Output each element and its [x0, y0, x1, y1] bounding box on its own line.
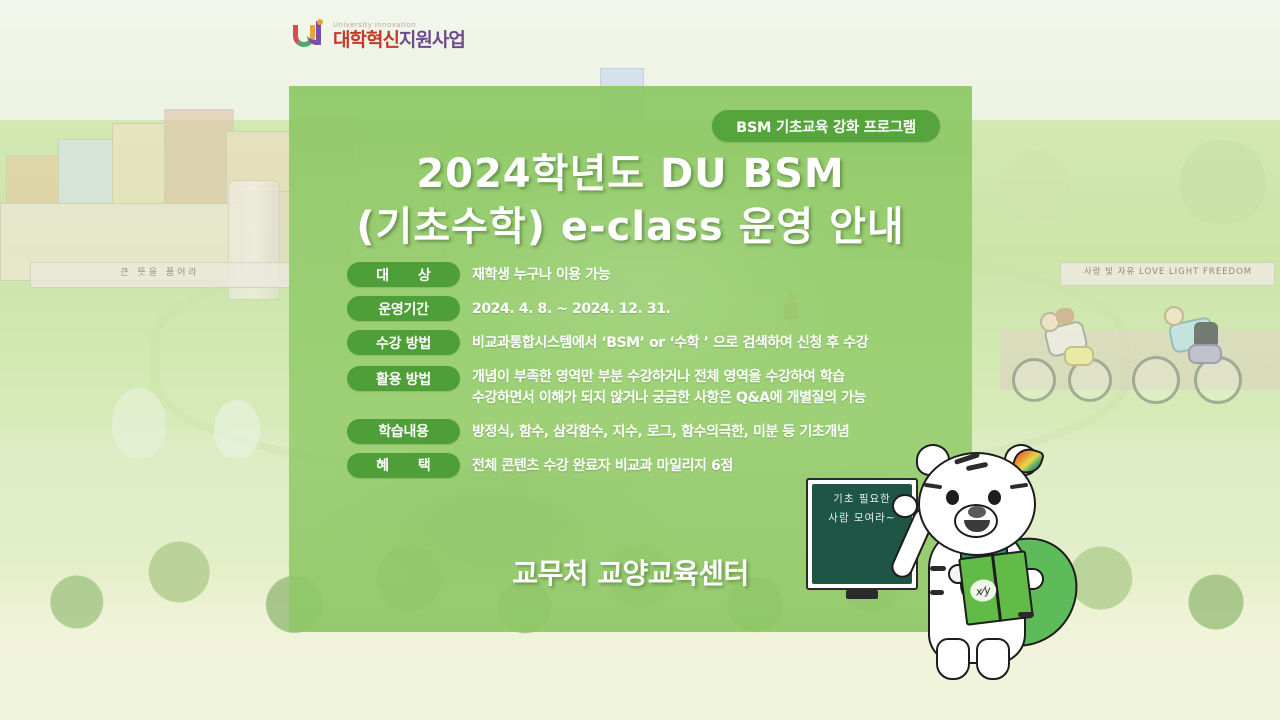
mascot-body-stripe-3 — [1018, 612, 1034, 617]
info-row-label: 운영기간 — [347, 296, 460, 321]
background-tree-1 — [112, 388, 166, 458]
poster-canvas: 큰 뜻을 품어라 사랑 빛 자유 LOVE LIGHT FREEDOM — [0, 0, 1280, 720]
info-row: 혜 택전체 콘텐츠 수강 완료자 비교과 마일리지 6점 — [347, 453, 947, 478]
logo-korean-text: 대학혁신지원사업 — [333, 31, 465, 50]
page-title: 2024학년도 DU BSM (기초수학) e-class 운영 안내 — [289, 148, 972, 254]
background-cyclist-left — [1012, 300, 1122, 410]
mascot-leg-right — [976, 638, 1010, 680]
background-tree-2 — [214, 400, 260, 458]
info-row-value: 개념이 부족한 영역만 부분 수강하거나 전체 영역을 수강하여 학습수강하면서… — [472, 364, 866, 410]
title-line-2: (기초수학) e-class 운영 안내 — [289, 201, 972, 254]
info-row-value-line: 재학생 누구나 이용 가능 — [472, 265, 610, 286]
info-row: 학습내용방정식, 함수, 삼각함수, 지수, 로그, 함수의극한, 미분 등 기… — [347, 419, 947, 444]
info-row-value: 비교과통합시스템에서 ‘BSM’ or ‘수학 ’ 으로 검색하여 신청 후 수… — [472, 330, 868, 354]
background-tree-4 — [1180, 140, 1266, 224]
mascot-leg-left — [936, 638, 970, 680]
university-innovation-logo: University innovation 대학혁신지원사업 — [293, 18, 465, 54]
info-row-value-line: 전체 콘텐츠 수강 완료자 비교과 마일리지 6점 — [472, 456, 733, 477]
mascot-eye-right — [988, 490, 1001, 505]
logo-korean-part1: 대학혁신 — [333, 29, 399, 51]
info-row: 운영기간2024. 4. 8. ~ 2024. 12. 31. — [347, 296, 947, 321]
info-row-value-line: 비교과통합시스템에서 ‘BSM’ or ‘수학 ’ 으로 검색하여 신청 후 수… — [472, 333, 868, 354]
info-row-value-line: 방정식, 함수, 삼각함수, 지수, 로그, 함수의극한, 미분 등 기초개념 — [472, 422, 849, 443]
background-tree-3 — [1000, 150, 1070, 222]
logo-text-block: University innovation 대학혁신지원사업 — [333, 22, 465, 50]
gate-left-text: 큰 뜻을 품어라 — [60, 265, 260, 278]
info-row-value: 전체 콘텐츠 수강 완료자 비교과 마일리지 6점 — [472, 453, 733, 477]
mascot-body-stripe-1 — [930, 566, 946, 571]
mascot-eye-left — [946, 490, 959, 505]
logo-korean-part2: 지원사업 — [399, 29, 465, 51]
info-row: 활용 방법개념이 부족한 영역만 부분 수강하거나 전체 영역을 수강하여 학습… — [347, 364, 947, 410]
info-row: 수강 방법비교과통합시스템에서 ‘BSM’ or ‘수학 ’ 으로 검색하여 신… — [347, 330, 947, 355]
blackboard-line-1: 기초 필요한 — [833, 491, 891, 506]
info-row-value-line: 2024. 4. 8. ~ 2024. 12. 31. — [472, 299, 670, 320]
uj-logo-mark-icon — [293, 19, 327, 53]
info-row-value: 재학생 누구나 이용 가능 — [472, 262, 610, 286]
info-row-label: 활용 방법 — [347, 366, 460, 391]
program-badge: BSM 기초교육 강화 프로그램 — [712, 110, 940, 142]
mascot-nose — [968, 506, 986, 518]
gate-right-text: 사랑 빛 자유 LOVE LIGHT FREEDOM — [1068, 265, 1268, 277]
title-line-1: 2024학년도 DU BSM — [289, 148, 972, 201]
info-row-label: 혜 택 — [347, 453, 460, 478]
info-row-label: 학습내용 — [347, 419, 460, 444]
mascot-body-stripe-2 — [930, 590, 944, 595]
info-row: 대 상재학생 누구나 이용 가능 — [347, 262, 947, 287]
mascot-book-label: x⁄y — [969, 578, 997, 603]
logo-english-text: University innovation — [333, 22, 465, 29]
info-row-label: 수강 방법 — [347, 330, 460, 355]
info-row-value: 방정식, 함수, 삼각함수, 지수, 로그, 함수의극한, 미분 등 기초개념 — [472, 419, 849, 443]
blackboard-line-2: 사람 모여라~ — [828, 510, 895, 525]
info-row-value-line: 개념이 부족한 영역만 부분 수강하거나 전체 영역을 수강하여 학습 — [472, 367, 866, 388]
white-tiger-mascot: x⁄y — [900, 442, 1130, 704]
info-row-value: 2024. 4. 8. ~ 2024. 12. 31. — [472, 296, 670, 320]
mascot-raised-paw — [892, 494, 918, 518]
info-row-value-line: 수강하면서 이해가 되지 않거나 궁금한 사항은 Q&A에 개별질의 가능 — [472, 388, 866, 409]
info-row-label: 대 상 — [347, 262, 460, 287]
info-rows: 대 상재학생 누구나 이용 가능운영기간2024. 4. 8. ~ 2024. … — [347, 262, 947, 487]
blackboard-stand — [846, 590, 878, 599]
background-cyclist-right — [1132, 296, 1252, 412]
